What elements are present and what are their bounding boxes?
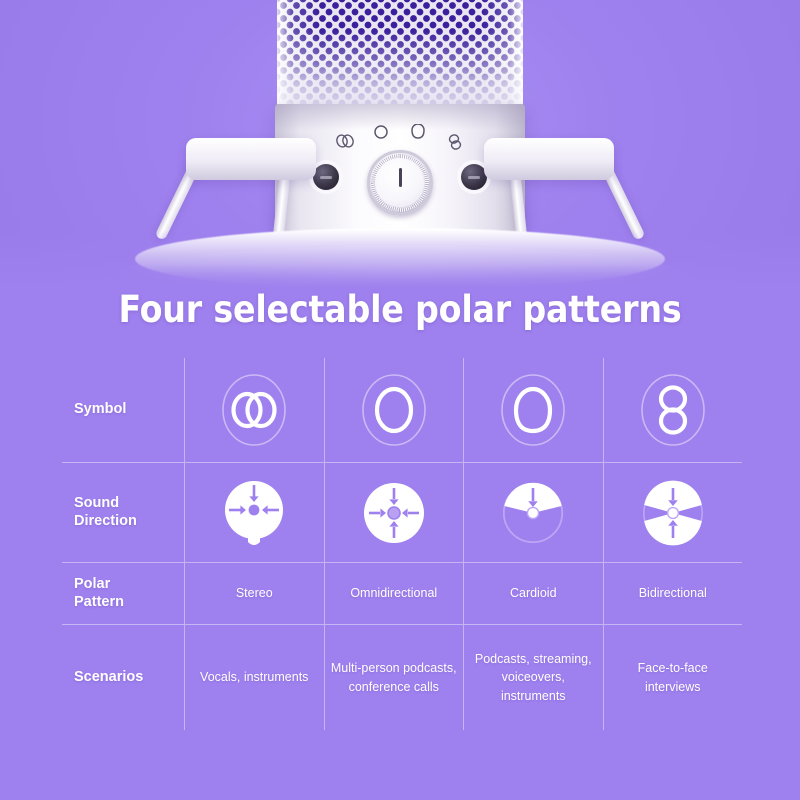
cell-symbol-omnidirectional <box>324 358 464 462</box>
cell-direction-bidirectional <box>603 463 743 562</box>
cell-direction-stereo <box>184 463 324 562</box>
cell-scenario-omnidirectional: Multi-person podcasts, conference calls <box>324 625 464 730</box>
stereo-glyph <box>335 134 355 148</box>
row-label-line-1: Polar <box>74 576 184 594</box>
cell-symbol-bidirectional <box>603 358 743 462</box>
microphone-grille <box>277 0 523 110</box>
row-label-scenarios: Scenarios <box>62 669 184 687</box>
cell-scenario-stereo: Vocals, instruments <box>184 625 324 730</box>
cardioid-glyph <box>410 124 426 140</box>
polar-pattern-knob[interactable] <box>367 150 433 216</box>
shock-mount-arm-right <box>484 138 614 180</box>
shock-mount-arm-left <box>186 138 316 180</box>
cell-symbol-cardioid <box>463 358 603 462</box>
omnidirectional-symbol-icon <box>359 372 429 448</box>
bidirectional-symbol-icon <box>638 372 708 448</box>
cell-polar-omnidirectional: Omnidirectional <box>324 563 464 624</box>
cell-symbol-stereo <box>184 358 324 462</box>
row-label-line-1: Sound <box>74 495 184 513</box>
table-row: Sound Direction <box>62 462 742 562</box>
table-row: Symbol <box>62 358 742 462</box>
table-row: Scenarios Vocals, instruments Multi-pers… <box>62 624 742 730</box>
row-label-sound-direction: Sound Direction <box>62 495 184 530</box>
knob-face <box>376 159 424 207</box>
cardioid-direction-icon <box>497 476 569 550</box>
screw-slot-left <box>320 176 332 179</box>
page-title: Four selectable polar patterns <box>0 288 800 331</box>
mount-screw-left <box>313 164 339 190</box>
polar-pattern-table: Symbol <box>62 358 742 730</box>
cell-polar-bidirectional: Bidirectional <box>603 563 743 624</box>
grille-side-shading <box>277 0 523 110</box>
cell-polar-cardioid: Cardioid <box>463 563 603 624</box>
cell-direction-omnidirectional <box>324 463 464 562</box>
row-label-line-2: Pattern <box>74 594 184 612</box>
cell-direction-cardioid <box>463 463 603 562</box>
page-root: Four selectable polar patterns Symbol <box>0 0 800 800</box>
bidirectional-glyph <box>445 134 465 150</box>
knob-pointer <box>399 168 402 187</box>
cell-scenario-cardioid: Podcasts, streaming, voiceovers, instrum… <box>463 625 603 730</box>
cardioid-symbol-icon <box>498 372 568 448</box>
stereo-direction-icon <box>218 476 290 550</box>
row-label-polar-pattern: Polar Pattern <box>62 576 184 611</box>
row-label-line-2: Direction <box>74 513 184 531</box>
row-label-symbol: Symbol <box>62 401 184 419</box>
screw-slot-right <box>468 176 480 179</box>
stereo-symbol-icon <box>219 372 289 448</box>
omnidirectional-direction-icon <box>358 476 430 550</box>
cell-scenario-bidirectional: Face-to-face interviews <box>603 625 743 730</box>
cell-polar-stereo: Stereo <box>184 563 324 624</box>
product-hero-image <box>0 0 800 300</box>
omnidirectional-glyph <box>373 124 389 140</box>
table-row: Polar Pattern Stereo Omnidirectional Car… <box>62 562 742 624</box>
bidirectional-direction-icon <box>637 476 709 550</box>
